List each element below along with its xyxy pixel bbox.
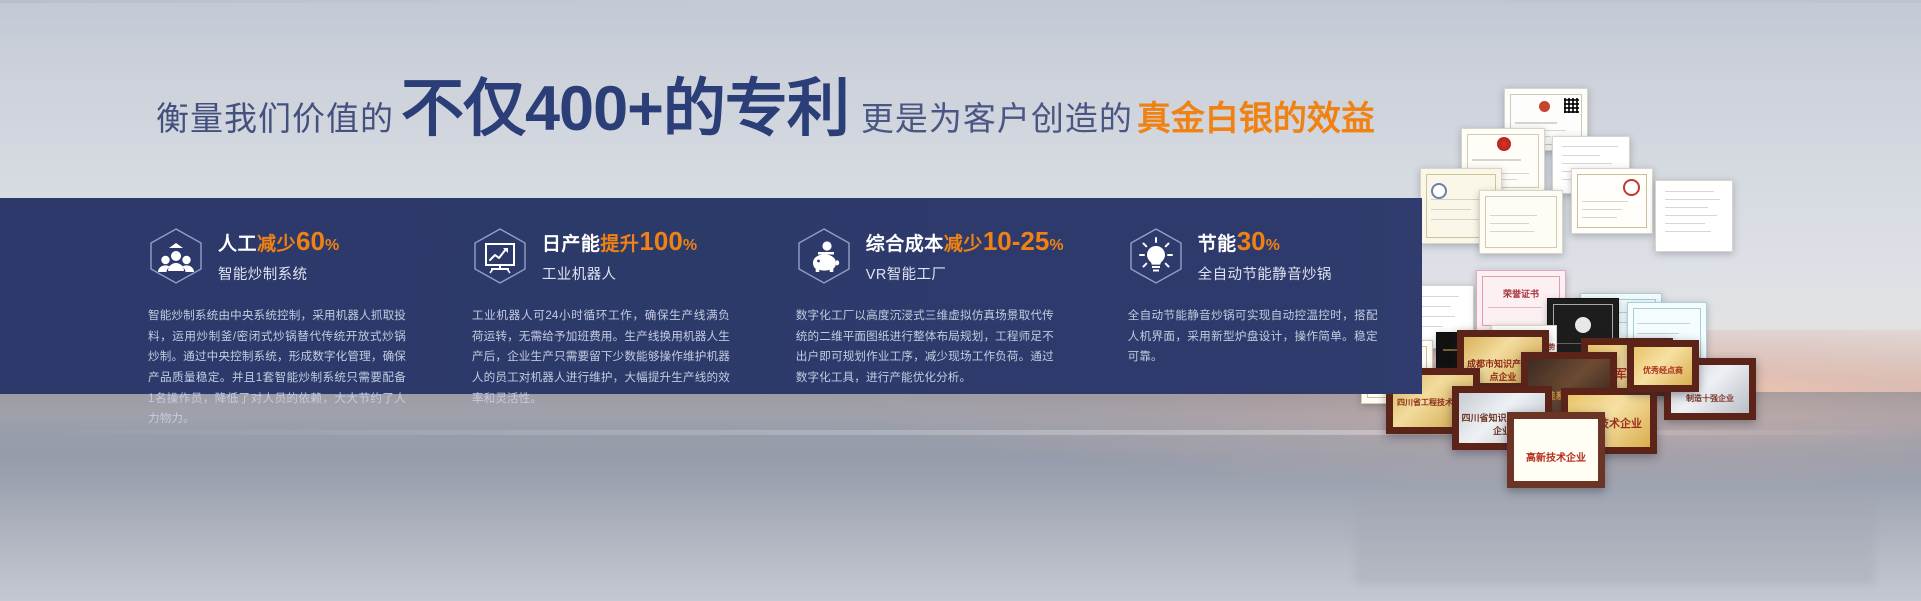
feature-stat: 日产能提升100% [542,228,697,255]
feature-stat-label: 节能 [1198,234,1237,255]
headline-strong: 不仅400+的专利 [401,78,849,141]
people-group-icon [148,226,204,286]
feature-subtitle: 全自动节能静音炒锅 [1198,263,1332,284]
feature-stat-number: 10-25 [983,226,1050,256]
feature-stat: 综合成本减少10-25% [866,228,1064,255]
feature-stat-number: 100 [639,226,682,256]
feature-stat: 节能30% [1198,228,1332,255]
feature-stat-verb: 提升 [600,234,639,255]
plaque-title: 制造十强企业 [1671,393,1749,404]
plaque-title: 优秀经点商 [1634,365,1692,376]
plaque-title: 高新技术企业 [1514,449,1598,464]
feature-card-cost: 综合成本减少10-25% VR智能工厂 数字化工厂以高度沉浸式三维虚拟仿真场景取… [796,198,1114,394]
feature-description: 全自动节能静音炒锅可实现自动控温控时，搭配人机界面，采用新型炉盘设计，操作简单。… [1128,306,1378,368]
certificate-item [1655,180,1733,252]
feature-card-labor: 人工减少60% 智能炒制系统 智能炒制系统由中央系统控制，采用机器人抓取投料，运… [148,198,466,394]
page-headline: 衡量我们价值的 不仅400+的专利 更是为客户创造的 真金白银的效益 [156,78,1375,141]
award-plaque: 优秀经点商 [1627,340,1699,392]
feature-stat-verb: 减少 [257,234,296,255]
feature-stat-label: 人工 [218,234,257,255]
feature-stat-unit: % [325,237,339,254]
feature-stat: 人工减少60% [218,228,339,255]
feature-stat-verb: 减少 [944,234,983,255]
banner-stage: 衡量我们价值的 不仅400+的专利 更是为客户创造的 真金白银的效益 [0,0,1921,601]
certificate-item [1479,190,1563,254]
feature-subtitle: 工业机器人 [542,263,697,284]
feature-stat-unit: % [1049,237,1063,254]
feature-stat-number: 30 [1237,226,1266,256]
feature-card-energy: 节能30% 全自动节能静音炒锅 全自动节能静音炒锅可实现自动控温控时，搭配人机界… [1128,198,1422,394]
feature-description: 工业机器人可24小时循环工作，确保生产线满负荷运转，无需给予加班费用。生产线换用… [472,306,730,409]
certificate-item [1571,168,1653,234]
feature-subtitle: 智能炒制系统 [218,263,339,284]
piggy-bank-icon [796,226,852,286]
chart-board-icon [472,226,528,286]
feature-card-capacity: 日产能提升100% 工业机器人 工业机器人可24小时循环工作，确保生产线满负荷运… [472,198,790,394]
headline-mid: 更是为客户创造的 [861,92,1133,140]
feature-description: 智能炒制系统由中央系统控制，采用机器人抓取投料，运用炒制釜/密闭式炒锅替代传统开… [148,306,406,430]
feature-description: 数字化工厂以高度沉浸式三维虚拟仿真场景取代传统的二维平面图纸进行整体布局规划，工… [796,306,1054,389]
certificate-reflection [1355,488,1875,584]
background-top-edge [0,0,1921,3]
award-plaque: 高新技术企业 [1507,412,1605,488]
feature-stat-label: 综合成本 [866,234,944,255]
feature-stat-unit: % [1266,237,1280,254]
headline-lead: 衡量我们价值的 [156,92,394,140]
feature-subtitle: VR智能工厂 [866,263,1064,284]
lightbulb-icon [1128,226,1184,286]
features-row: 人工减少60% 智能炒制系统 智能炒制系统由中央系统控制，采用机器人抓取投料，运… [0,198,1422,394]
feature-stat-number: 60 [296,226,325,256]
feature-stat-label: 日产能 [542,234,601,255]
feature-stat-unit: % [683,237,697,254]
